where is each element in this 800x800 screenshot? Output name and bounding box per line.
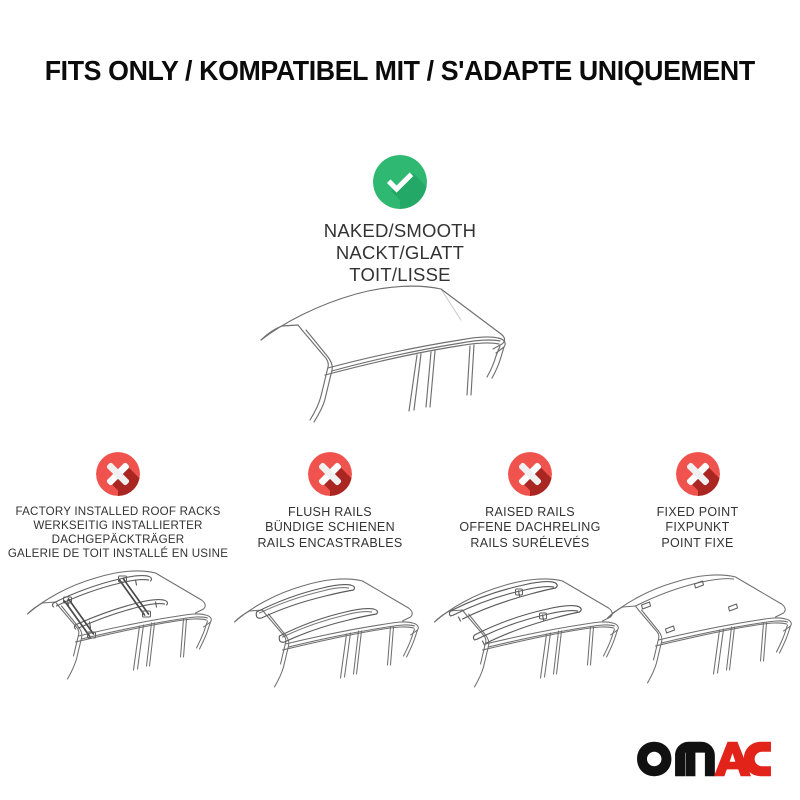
- fixed-label-fr: POINT FIXE: [625, 536, 770, 551]
- fixed-point-labels: FIXED POINT FIXPUNKT POINT FIXE: [625, 505, 770, 551]
- check-circle-icon: [373, 155, 427, 209]
- cross-circle-icon: [96, 452, 140, 496]
- raised-label-fr: RAILS SURÉLEVÉS: [432, 536, 628, 551]
- header-bar: FITS ONLY / KOMPATIBEL MIT / S'ADAPTE UN…: [0, 50, 800, 92]
- flush-label-fr: RAILS ENCASTRABLES: [232, 536, 428, 551]
- compatible-option-naked-smooth: NAKED/SMOOTH NACKT/GLATT TOIT/LISSE: [200, 155, 600, 287]
- cross-circle-icon: [676, 452, 720, 496]
- factory-label-de-2: DACHGEPÄCKTRÄGER: [2, 533, 234, 547]
- cross-circle-icon: [508, 452, 552, 496]
- car-roof-factory-racks-illustration: [15, 552, 230, 702]
- compatible-label-en: NAKED/SMOOTH: [200, 220, 600, 242]
- flush-label-de: BÜNDIGE SCHIENEN: [232, 520, 428, 535]
- car-roof-naked-smooth-illustration: [255, 283, 545, 423]
- compatible-label-de: NACKT/GLATT: [200, 242, 600, 264]
- flush-label-en: FLUSH RAILS: [232, 505, 428, 520]
- raised-rails-labels: RAISED RAILS OFFENE DACHRELING RAILS SUR…: [432, 505, 628, 551]
- incompatible-option-factory-roof-racks: FACTORY INSTALLED ROOF RACKS WERKSEITIG …: [2, 452, 234, 562]
- cross-circle-icon: [308, 452, 352, 496]
- incompatible-option-raised-rails: RAISED RAILS OFFENE DACHRELING RAILS SUR…: [432, 452, 628, 551]
- factory-label-de-1: WERKSEITIG INSTALLIERTER: [2, 519, 234, 533]
- raised-label-de: OFFENE DACHRELING: [432, 520, 628, 535]
- incompatible-option-flush-rails: FLUSH RAILS BÜNDIGE SCHIENEN RAILS ENCAS…: [232, 452, 428, 551]
- factory-label-en: FACTORY INSTALLED ROOF RACKS: [2, 505, 234, 519]
- page-title: FITS ONLY / KOMPATIBEL MIT / S'ADAPTE UN…: [45, 55, 755, 87]
- incompatible-option-fixed-point: FIXED POINT FIXPUNKT POINT FIXE: [625, 452, 770, 551]
- raised-label-en: RAISED RAILS: [432, 505, 628, 520]
- omac-logo: [636, 740, 772, 778]
- car-roof-flush-rails-illustration: [223, 560, 438, 710]
- flush-rails-labels: FLUSH RAILS BÜNDIGE SCHIENEN RAILS ENCAS…: [232, 505, 428, 551]
- car-roof-fixed-point-illustration: [596, 556, 800, 706]
- compatible-labels: NAKED/SMOOTH NACKT/GLATT TOIT/LISSE: [200, 220, 600, 287]
- fixed-label-en: FIXED POINT: [625, 505, 770, 520]
- fixed-label-de: FIXPUNKT: [625, 520, 770, 535]
